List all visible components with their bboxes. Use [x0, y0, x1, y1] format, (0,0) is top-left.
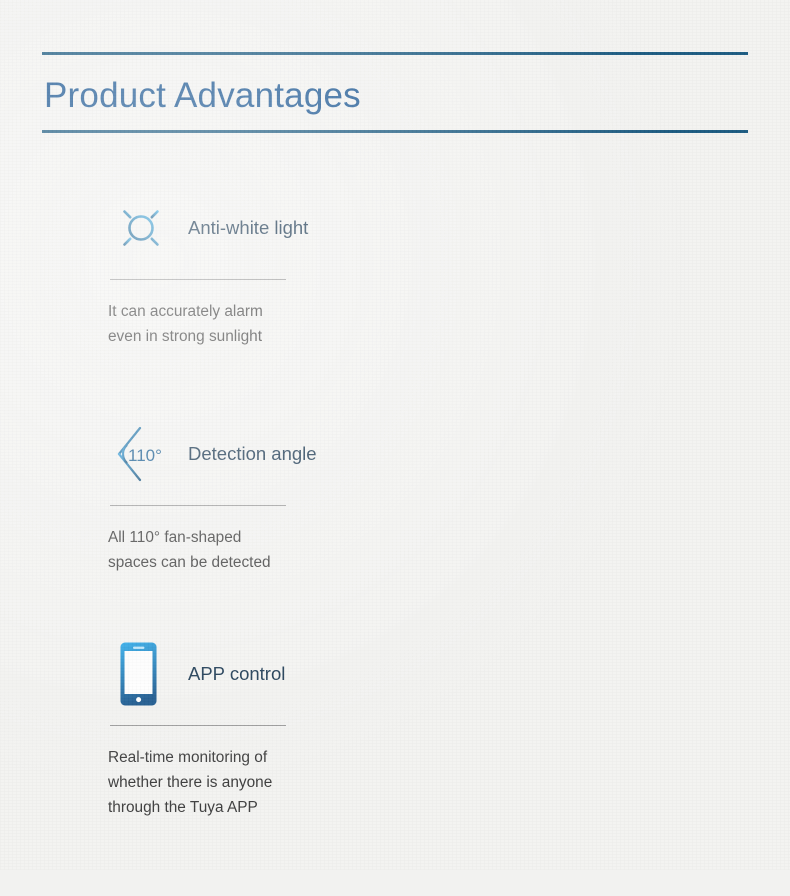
- feature-header: APP control: [108, 631, 320, 717]
- feature-header: Anti-white light: [108, 185, 320, 271]
- page-title: Product Advantages: [42, 55, 748, 130]
- feature-app-control: APP control Real-time monitoring of whet…: [0, 631, 320, 861]
- features-row: APP control Real-time monitoring of whet…: [0, 631, 790, 861]
- feature-anti-crawling-deception: Anti-crawling deception Can prevent craw…: [320, 631, 790, 861]
- feature-detection-distance: Detection distance Effective detection d…: [320, 411, 790, 631]
- smartphone-icon: [108, 641, 174, 707]
- feature-pet-immune: Pet-immune function Can prevent false al…: [320, 185, 790, 411]
- feature-divider: [110, 725, 286, 726]
- feature-description: It can accurately alarm even in strong s…: [108, 280, 320, 350]
- feature-header: 110° Detection angle: [108, 411, 320, 497]
- sun-icon: [108, 195, 174, 261]
- feature-title: APP control: [174, 656, 285, 692]
- product-advantages-page: Product Advantages: [0, 0, 790, 870]
- feature-description: Real-time monitoring of whether there is…: [108, 726, 320, 821]
- page-header: Product Advantages: [42, 52, 748, 133]
- feature-divider: [110, 505, 286, 506]
- header-bottom-rule: [42, 130, 748, 133]
- feature-title: Detection angle: [174, 436, 317, 472]
- detection-angle-icon: 110°: [108, 421, 174, 487]
- features-row: 110° Detection angle All 110° fan-shaped…: [0, 411, 790, 631]
- feature-description: All 110° fan-shaped spaces can be detect…: [108, 506, 320, 576]
- feature-anti-white-light: Anti-white light It can accurately alarm…: [0, 185, 320, 411]
- feature-divider: [110, 279, 286, 280]
- feature-title: Anti-white light: [174, 210, 308, 246]
- features-row: Anti-white light It can accurately alarm…: [0, 185, 790, 411]
- feature-detection-angle: 110° Detection angle All 110° fan-shaped…: [0, 411, 320, 631]
- svg-text:110°: 110°: [128, 446, 162, 465]
- features-grid: Anti-white light It can accurately alarm…: [0, 185, 790, 861]
